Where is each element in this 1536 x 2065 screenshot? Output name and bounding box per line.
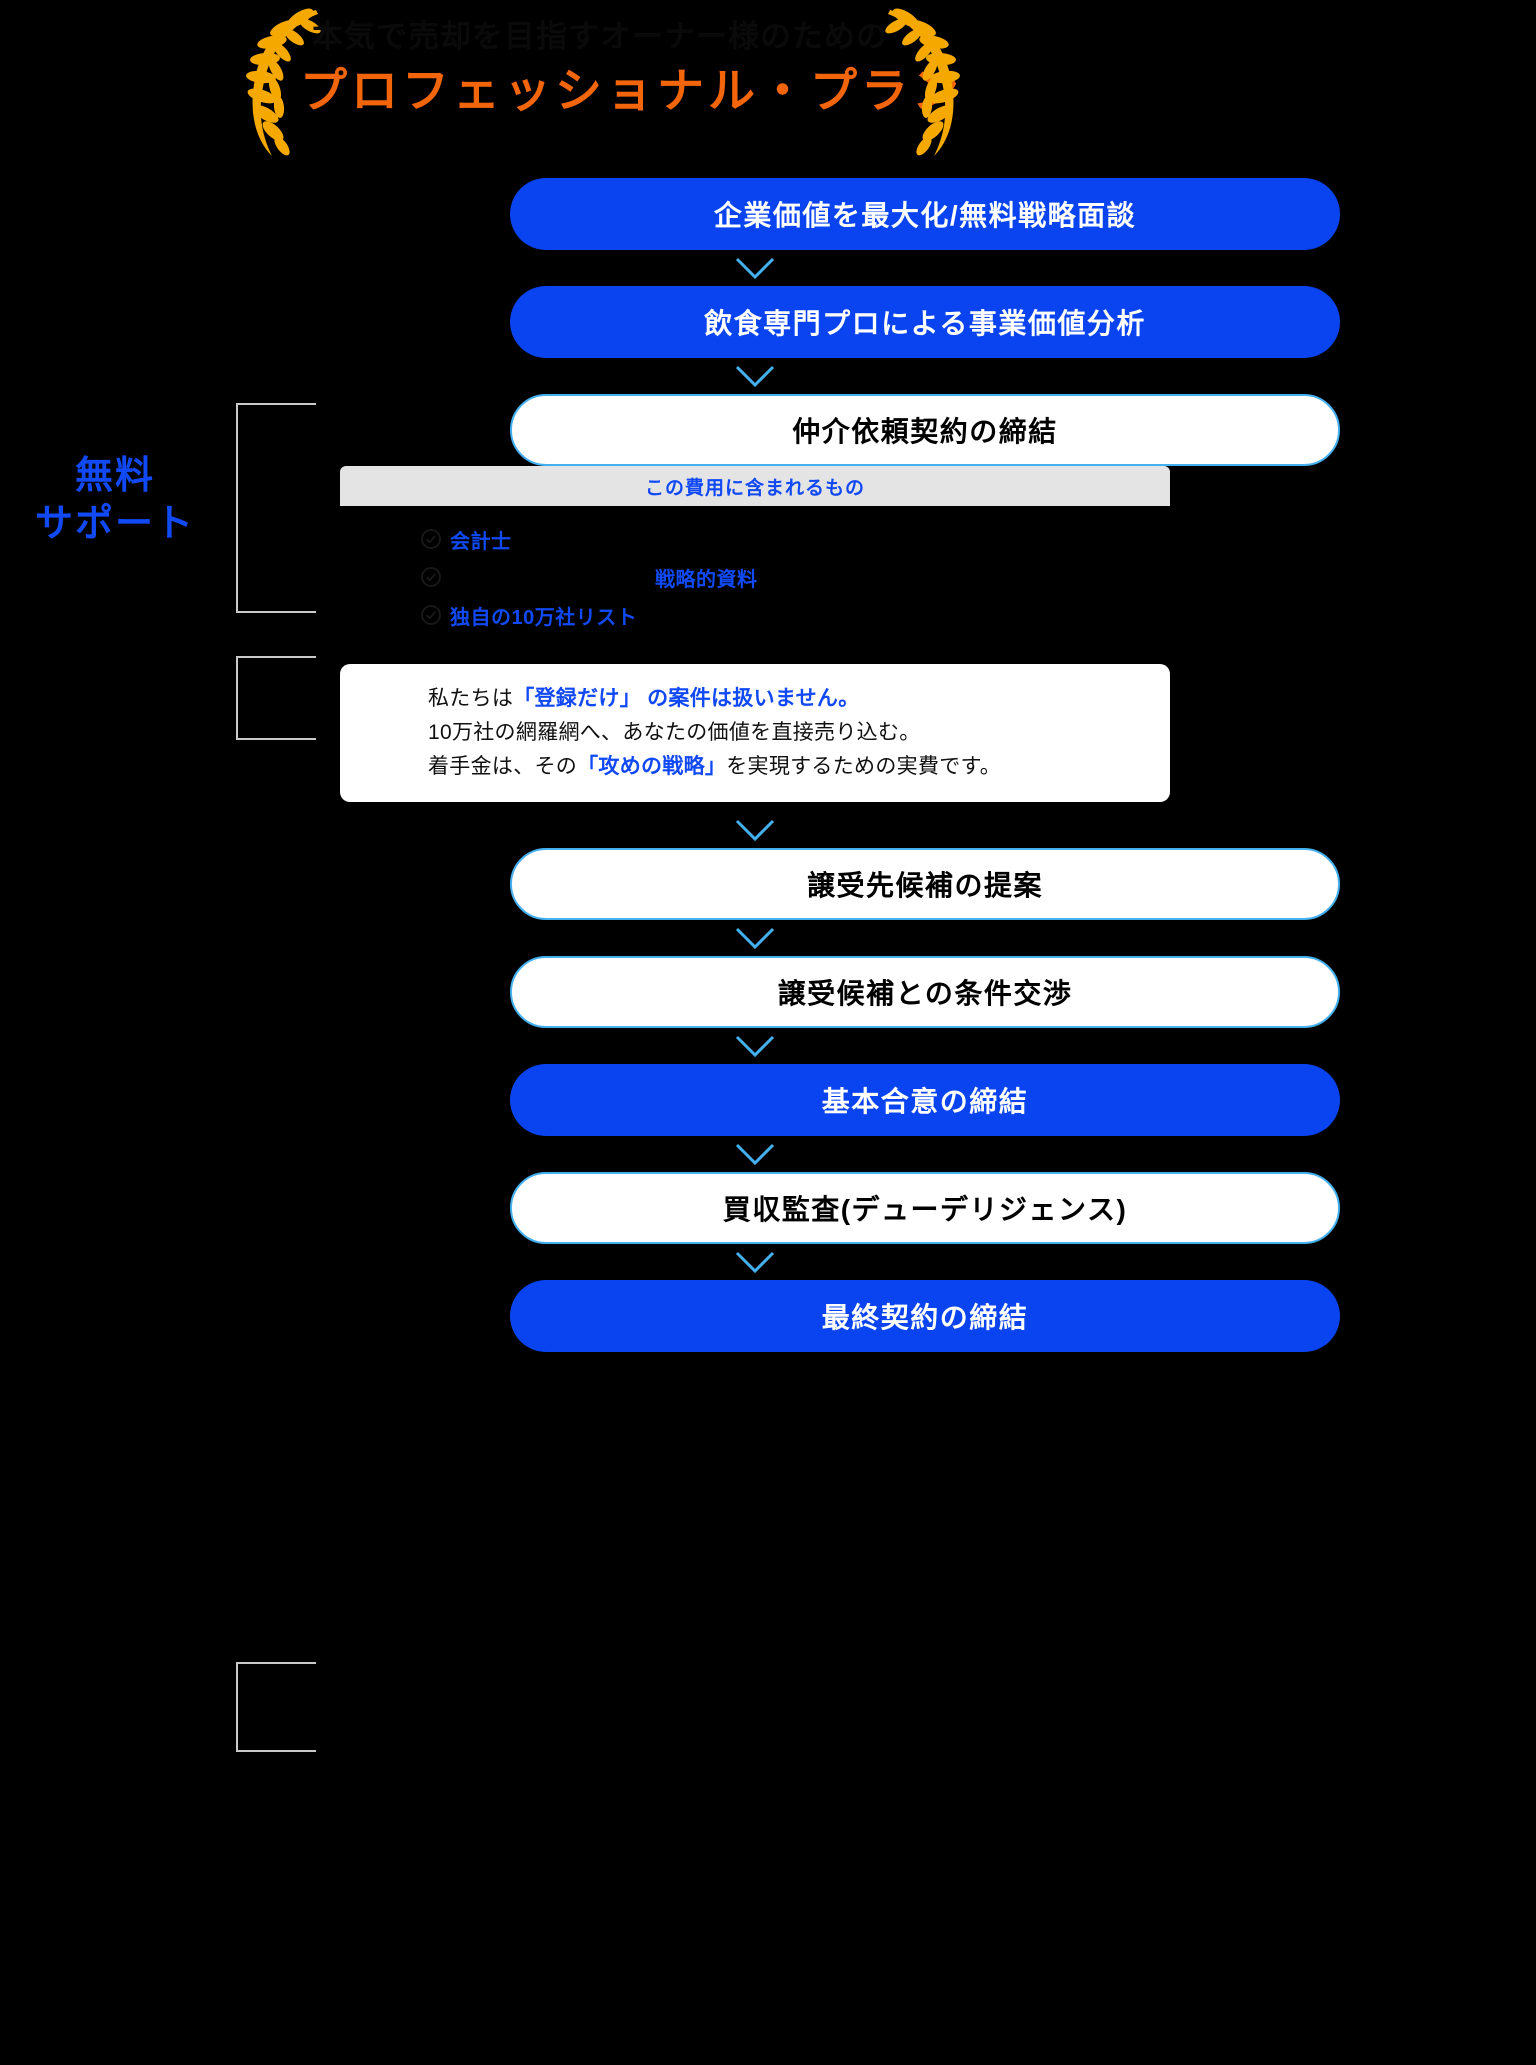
- list-item: 会計士: [420, 520, 1180, 558]
- header-text-block: 本気で売却を目指すオーナー様のための プロフェッショナル・プラン: [300, 18, 900, 119]
- step-pill-2[interactable]: 飲食専門プロによる事業価値分析: [510, 286, 1340, 358]
- included-costs-list: 会計士 戦略的資料 独自の10万社リスト: [420, 506, 1180, 634]
- list-item-label: 独自の10万社リスト: [450, 601, 637, 630]
- chevron-down-icon: [340, 250, 1170, 286]
- included-costs-bar: この費用に含まれるもの: [340, 466, 1170, 506]
- step-pill-7[interactable]: 買収監査(デューデリジェンス): [510, 1172, 1340, 1244]
- check-circle-icon: [420, 528, 442, 550]
- list-item-label: 会計士: [450, 525, 512, 554]
- list-item-label: 戦略的資料: [655, 563, 758, 592]
- page-subtitle: 本気で売却を目指すオーナー様のための: [300, 18, 900, 57]
- note-line-3: 着手金は、その「攻めの戦略」を実現するための実費です。: [428, 750, 1170, 784]
- step-pill-8[interactable]: 最終契約の締結: [510, 1280, 1340, 1352]
- chevron-down-icon: [340, 1028, 1170, 1064]
- list-item: 戦略的資料: [420, 558, 1180, 596]
- free-support-label: 無料 サポート: [0, 453, 230, 548]
- step-pill-1[interactable]: 企業価値を最大化/無料戦略面談: [510, 178, 1340, 250]
- step-pill-6[interactable]: 基本合意の締結: [510, 1064, 1340, 1136]
- contract-bracket: [236, 656, 316, 740]
- step-row: 譲受先候補の提案: [170, 848, 1366, 920]
- step-pill-4[interactable]: 譲受先候補の提案: [510, 848, 1340, 920]
- chevron-down-icon: [340, 1136, 1170, 1172]
- step-pill-5[interactable]: 譲受候補との条件交渉: [510, 956, 1340, 1028]
- step-row: 飲食専門プロによる事業価値分析: [170, 286, 1366, 358]
- step-row: 最終契約の締結: [170, 1280, 1366, 1352]
- note-line-3-post: を実現するための実費です。: [726, 755, 1001, 778]
- chevron-down-icon: [340, 812, 1170, 848]
- step-row: 買収監査(デューデリジェンス): [170, 1172, 1366, 1244]
- step-pill-3[interactable]: 仲介依頼契約の締結: [510, 394, 1340, 466]
- note-line-1-pre: 私たちは: [428, 687, 513, 710]
- note-line-3-highlight: 「攻めの戦略」: [577, 755, 726, 778]
- final-contract-bracket: [236, 1662, 316, 1752]
- step-row: 企業価値を最大化/無料戦略面談: [170, 178, 1366, 250]
- chevron-down-icon: [340, 1244, 1170, 1280]
- note-line-1: 私たちは「登録だけ」 の案件は扱いません。: [428, 682, 1170, 716]
- page-header: 本気で売却を目指すオーナー様のための プロフェッショナル・プラン: [0, 0, 1536, 170]
- step-row: 譲受候補との条件交渉: [170, 956, 1366, 1028]
- process-flow: 無料 サポート 企業価値を最大化/無料戦略面談 飲食専門プロによる事業価値分析 …: [0, 178, 1536, 1352]
- step-row: 仲介依頼契約の締結: [170, 394, 1366, 466]
- list-item: 独自の10万社リスト: [420, 596, 1180, 634]
- note-line-1-highlight: 「登録だけ」 の案件は扱いません。: [513, 687, 859, 710]
- step-row: 基本合意の締結: [170, 1064, 1366, 1136]
- chevron-down-icon: [340, 920, 1170, 956]
- laurel-wreath-right-icon: [868, 4, 968, 162]
- free-support-label-line2: サポート: [0, 501, 230, 549]
- chevron-down-icon: [340, 358, 1170, 394]
- note-line-3-pre: 着手金は、その: [428, 755, 577, 778]
- check-circle-icon: [420, 566, 442, 588]
- note-line-2: 10万社の網羅網へ、あなたの価値を直接売り込む。: [428, 716, 1170, 750]
- policy-note-box: 私たちは「登録だけ」 の案件は扱いません。 10万社の網羅網へ、あなたの価値を直…: [340, 664, 1170, 802]
- page-title: プロフェッショナル・プラン: [300, 63, 900, 119]
- check-circle-icon: [420, 604, 442, 626]
- list-item-lead-spacer: [450, 563, 655, 592]
